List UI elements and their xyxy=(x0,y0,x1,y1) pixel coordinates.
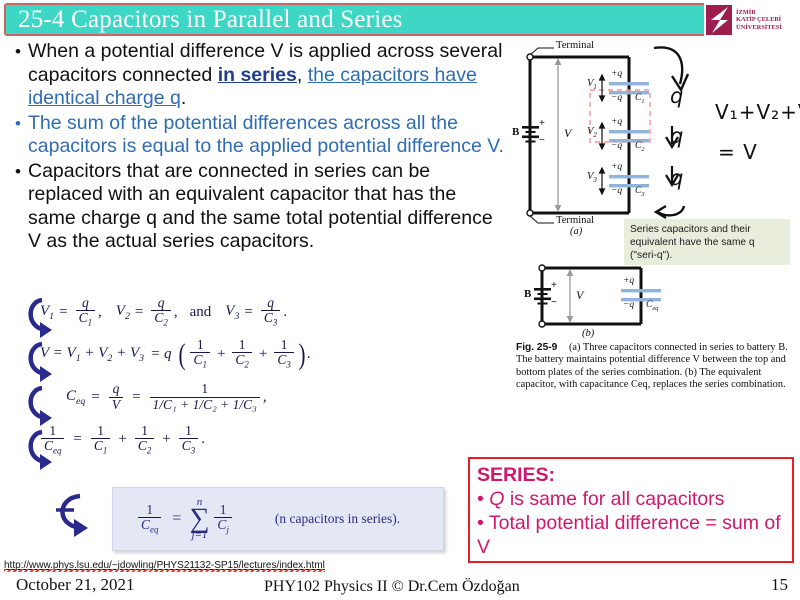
bullet-marker: • xyxy=(8,40,28,111)
equation-line-1: V1 = q C1 , V2 = q C2 , and V3 = q C3 . xyxy=(40,296,440,328)
bullet-1-link-in-series[interactable]: in series xyxy=(218,64,297,86)
handwritten-equals-V: = V xyxy=(718,140,758,164)
logo-line-1: İZMİR xyxy=(736,9,782,17)
sum-ceq: Ceq xyxy=(138,517,161,535)
eq4-plus-1: + xyxy=(118,431,126,448)
eq1-c1: C1 xyxy=(76,310,95,328)
eq1-c3: C3 xyxy=(261,310,280,328)
bullet-item-3: • Capacitors that are connected in serie… xyxy=(8,160,508,254)
equation-line-2: V = V1 + V2 + V3 = q ( 1 C1 + 1 C2 + 1 C… xyxy=(40,338,440,370)
series-box-symbol-Q: Q xyxy=(489,488,504,510)
eq1-and: and xyxy=(190,304,212,321)
logo-wordmark: İZMİR KATİP ÇELEBİ ÜNİVERSİTESİ xyxy=(736,9,782,32)
equation-block: V1 = q C1 , V2 = q C2 , and V3 = q C3 . xyxy=(40,296,440,463)
eq4-period: . xyxy=(201,431,205,448)
battery-minus-sign-b: − xyxy=(551,297,557,308)
circuit-diagram-b: B + − V +q −q Ceq (b) xyxy=(524,258,694,340)
figure-label-a: (a) xyxy=(570,226,582,237)
ceq-minus-charge: −q xyxy=(623,300,634,310)
series-box-heading: SERIES: xyxy=(477,463,785,487)
eq4-c3: C3 xyxy=(179,438,198,456)
logo-line-3: ÜNİVERSİTESİ xyxy=(736,24,782,32)
eq3-ceq: Ceq xyxy=(66,388,85,407)
cap2-label: C2 xyxy=(635,141,644,153)
eq4-c2: C2 xyxy=(135,438,154,456)
cap2-minus-charge: −q xyxy=(611,141,622,151)
eq1-c2: C2 xyxy=(151,310,170,328)
eq2-paren-close: ) xyxy=(298,342,305,368)
logo-mark-icon xyxy=(706,3,734,37)
eq3-equals-2: = xyxy=(132,389,140,406)
footer-page-number: 15 xyxy=(771,575,788,595)
cap3-plus-charge: +q xyxy=(611,162,622,172)
sigma-icon: ∑ xyxy=(189,508,209,530)
bullet-list: • When a potential difference V is appli… xyxy=(8,40,508,255)
eq1-frac-3: q C3 xyxy=(261,296,280,328)
cap1-minus-charge: −q xyxy=(611,93,622,103)
figure-caption-text: (a) Three capacitors connected in series… xyxy=(516,342,788,390)
slide-canvas: 25-4 Capacitors in Parallel and Series İ… xyxy=(0,0,800,600)
eq1-equals-3: = xyxy=(244,304,252,321)
handwritten-q-2: q xyxy=(670,124,683,148)
cap1-voltage-label: V1 xyxy=(587,78,597,91)
sum-equals: = xyxy=(172,510,181,528)
page-title: 25-4 Capacitors in Parallel and Series xyxy=(18,5,403,35)
eq4-frac-2: 1 C2 xyxy=(135,424,154,456)
footer-course-credit: PHY102 Physics II © Dr.Cem Özdoğan xyxy=(264,578,520,596)
figure-caption: Fig. 25-9 (a) Three capacitors connected… xyxy=(516,342,796,392)
eq4-frac-3: 1 C3 xyxy=(179,424,198,456)
eq2-plus-2: + xyxy=(259,346,267,363)
ceq-label: Ceq xyxy=(646,300,658,312)
eq1-frac-1: q C1 xyxy=(76,296,95,328)
handwritten-q-3: q xyxy=(670,166,683,190)
bullet-text-2: The sum of the potential differences acr… xyxy=(28,112,508,159)
equation-line-4: 1 Ceq = 1 C1 + 1 C2 + 1 C3 . xyxy=(38,424,440,456)
eq2-paren-open: ( xyxy=(179,342,186,368)
bullet-marker: • xyxy=(8,112,28,159)
eq1-period: . xyxy=(283,304,287,321)
logo-line-2: KATİP ÇELEBİ xyxy=(736,16,782,24)
eq3-frac-qv: q V xyxy=(109,382,123,411)
curved-arrow-icon-5 xyxy=(50,490,92,546)
eq2-equals-q: = q xyxy=(150,346,171,363)
eq3-comma: , xyxy=(263,389,267,406)
voltage-label-V: V xyxy=(564,126,571,141)
battery-label-b: B xyxy=(524,288,531,300)
cap1-plus-charge: +q xyxy=(611,69,622,79)
ceq-plus-charge: +q xyxy=(623,276,634,286)
footer-date: October 21, 2021 xyxy=(16,575,135,595)
bullet-item-2: • The sum of the potential differences a… xyxy=(8,112,508,159)
eq2-frac-2: 1 C2 xyxy=(232,338,251,370)
battery-plus-sign-b: + xyxy=(551,280,557,291)
eq3-equals: = xyxy=(91,389,99,406)
equation-line-3: Ceq = q V = 1 1/C₁ + 1/C₂ + 1/C₃ , xyxy=(66,382,440,411)
series-box-item-2: • Total potential difference = sum of V xyxy=(477,511,785,559)
university-logo: İZMİR KATİP ÇELEBİ ÜNİVERSİTESİ xyxy=(704,0,800,40)
eq2-frac-1: 1 C1 xyxy=(190,338,209,370)
eq2-c3: C3 xyxy=(274,352,293,370)
eq1-comma-1: , xyxy=(98,304,102,321)
eq1-frac-2: q C2 xyxy=(151,296,170,328)
eq2-plus-1: + xyxy=(217,346,225,363)
eq2-frac-3: 1 C3 xyxy=(274,338,293,370)
eq3-frac-big: 1 1/C₁ + 1/C₂ + 1/C₃ xyxy=(150,382,260,411)
battery-plus-sign: + xyxy=(539,118,545,129)
voltage-label-V-b: V xyxy=(576,288,583,303)
series-box-item-1: • Q is same for all capacitors xyxy=(477,487,785,511)
eq1-equals-2: = xyxy=(135,304,143,321)
series-box-marker-2: • xyxy=(477,512,484,534)
series-box-text-2: Total potential difference = sum of V xyxy=(477,512,781,558)
slide-title-bar: 25-4 Capacitors in Parallel and Series xyxy=(4,3,790,36)
terminal-label-top: Terminal xyxy=(556,40,594,51)
eq4-plus-2: + xyxy=(162,431,170,448)
eq1-v3: V3 xyxy=(225,303,239,322)
sum-cj: Cj xyxy=(214,517,232,535)
eq4-frac-1: 1 C1 xyxy=(91,424,110,456)
figure-label-b: (b) xyxy=(582,328,594,339)
sum-frac-term: 1 Cj xyxy=(214,503,232,535)
cap1-label: C1 xyxy=(635,93,644,105)
figure-caption-label: Fig. 25-9 xyxy=(516,342,557,353)
boxed-summation-formula: 1 Ceq = n ∑ j=1 1 Cj (n capacitors in se… xyxy=(112,487,444,551)
eq1-v2: V2 xyxy=(116,303,130,322)
bullet-1-part-3: , xyxy=(297,64,308,86)
bullet-text-1: When a potential difference V is applied… xyxy=(28,40,508,111)
battery-minus-sign: − xyxy=(539,135,545,146)
series-box-text-1: is same for all capacitors xyxy=(504,488,724,510)
handwritten-q-1: q xyxy=(670,84,683,108)
eq3-denominator: 1/C₁ + 1/C₂ + 1/C₃ xyxy=(150,397,260,412)
cap3-label: C3 xyxy=(635,186,644,198)
sum-frac-lhs: 1 Ceq xyxy=(138,503,161,535)
battery-label: B xyxy=(512,126,519,138)
source-url-link[interactable]: http://www.phys.lsu.edu/~jdowling/PHYS21… xyxy=(4,560,325,571)
eq4-equals: = xyxy=(73,431,81,448)
terminal-label-bottom: Terminal xyxy=(556,215,594,226)
sum-note: (n capacitors in series). xyxy=(275,511,400,527)
handwritten-sum-formula: V₁+V₂+V₃ xyxy=(715,100,800,124)
eq1-comma-2: , xyxy=(174,304,178,321)
bullet-text-3: Capacitors that are connected in series … xyxy=(28,160,508,254)
eq2-period: . xyxy=(307,346,311,363)
eq2-c2: C2 xyxy=(232,352,251,370)
sum-lower-limit: j=1 xyxy=(191,530,207,541)
cap3-voltage-label: V3 xyxy=(587,171,597,184)
eq4-c1: C1 xyxy=(91,438,110,456)
cap2-voltage-label: V2 xyxy=(587,126,597,139)
bullet-marker: • xyxy=(8,160,28,254)
bullet-1-part-5: . xyxy=(181,87,186,109)
eq1-equals: = xyxy=(59,304,67,321)
cap2-plus-charge: +q xyxy=(611,117,622,127)
series-box-marker-1: • xyxy=(477,488,484,510)
cap3-minus-charge: −q xyxy=(611,186,622,196)
eq2-c1: C1 xyxy=(190,352,209,370)
series-summary-box: SERIES: • Q is same for all capacitors •… xyxy=(468,457,794,563)
bullet-item-1: • When a potential difference V is appli… xyxy=(8,40,508,111)
curved-arrow-icon-4 xyxy=(22,428,56,482)
